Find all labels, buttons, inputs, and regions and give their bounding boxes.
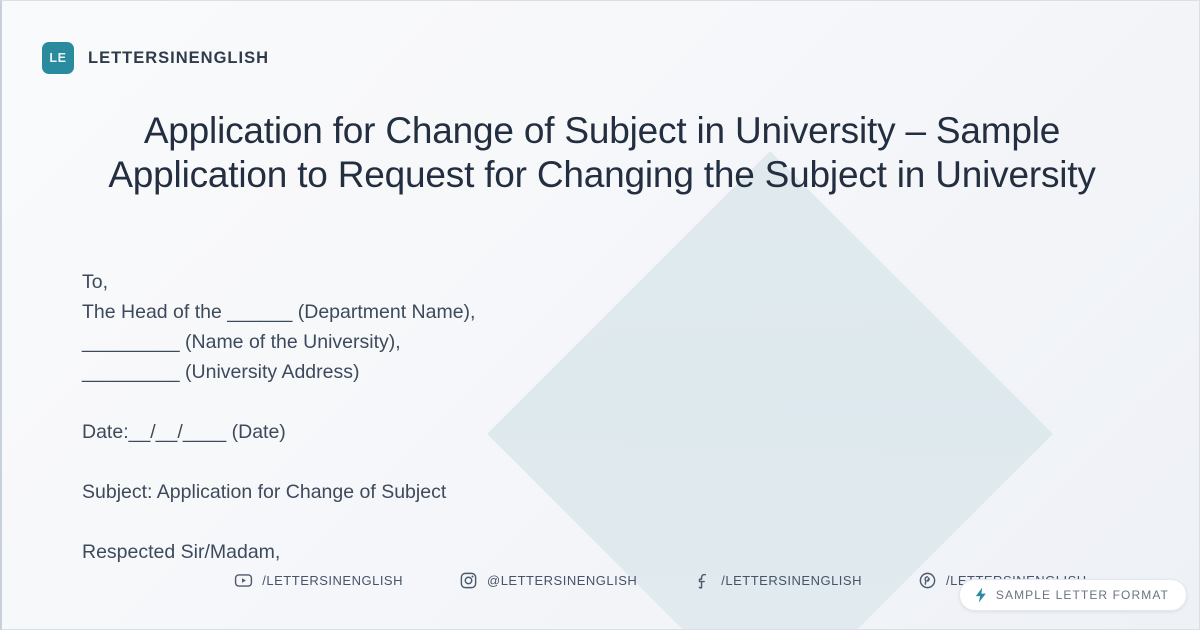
- letter-line-salutation: Respected Sir/Madam,: [82, 537, 982, 567]
- pinterest-icon: [918, 571, 937, 590]
- sample-letter-format-button[interactable]: SAMPLE LETTER FORMAT: [959, 579, 1187, 611]
- social-handle-youtube: /LETTERSINENGLISH: [262, 573, 403, 588]
- sample-letter-card: LE LETTERSINENGLISH Application for Chan…: [0, 0, 1200, 630]
- instagram-icon: [459, 571, 478, 590]
- letter-line-university: _________ (Name of the University),: [82, 327, 982, 357]
- social-link-youtube[interactable]: /LETTERSINENGLISH: [234, 571, 403, 590]
- letter-spacer: [82, 387, 982, 417]
- le-monogram-icon: LE: [42, 42, 74, 74]
- social-link-instagram[interactable]: @LETTERSINENGLISH: [459, 571, 637, 590]
- letter-line-date: Date:__/__/____ (Date): [82, 417, 982, 447]
- brand-logo[interactable]: LE LETTERSINENGLISH: [42, 42, 269, 74]
- page-title: Application for Change of Subject in Uni…: [102, 109, 1102, 196]
- letter-line-address: _________ (University Address): [82, 357, 982, 387]
- letter-spacer: [82, 447, 982, 477]
- lightning-bolt-icon: [974, 587, 988, 603]
- card-content: LE LETTERSINENGLISH Application for Chan…: [2, 1, 1199, 629]
- letter-body: To, The Head of the ______ (Department N…: [82, 267, 982, 567]
- social-handle-facebook: /LETTERSINENGLISH: [721, 573, 862, 588]
- social-handle-instagram: @LETTERSINENGLISH: [487, 573, 637, 588]
- letter-spacer: [82, 507, 982, 537]
- letter-line-subject: Subject: Application for Change of Subje…: [82, 477, 982, 507]
- letter-line-to: To,: [82, 267, 982, 297]
- social-link-facebook[interactable]: /LETTERSINENGLISH: [693, 571, 862, 590]
- facebook-icon: [693, 571, 712, 590]
- letter-line-head: The Head of the ______ (Department Name)…: [82, 297, 982, 327]
- brand-name-label: LETTERSINENGLISH: [88, 49, 269, 68]
- youtube-icon: [234, 571, 253, 590]
- sample-letter-format-label: SAMPLE LETTER FORMAT: [996, 588, 1169, 602]
